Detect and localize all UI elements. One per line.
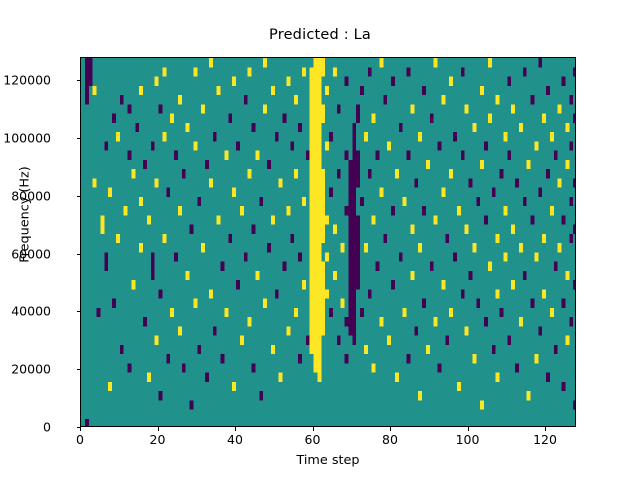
figure-canvas: Predicted : La 0200004000060000800001000…: [0, 0, 640, 480]
page-title: Predicted : La: [0, 27, 640, 43]
heatmap-plot-area[interactable]: [80, 57, 576, 427]
x-tick-mark: [235, 427, 236, 431]
y-tick-mark: [77, 369, 81, 370]
heatmap-image: [81, 58, 576, 427]
y-tick-mark: [77, 311, 81, 312]
y-tick-mark: [77, 254, 81, 255]
x-tick-mark: [545, 427, 546, 431]
x-tick-mark: [313, 427, 314, 431]
x-tick-label: 40: [227, 432, 243, 447]
y-tick-label: 120000: [0, 73, 51, 88]
y-tick-label: 0: [0, 420, 51, 435]
x-tick-mark: [468, 427, 469, 431]
y-axis-label: Frequency (Hz): [18, 105, 33, 325]
x-tick-label: 80: [382, 432, 398, 447]
x-tick-mark: [158, 427, 159, 431]
x-tick-label: 20: [150, 432, 166, 447]
y-tick-label: 20000: [0, 362, 51, 377]
x-tick-label: 60: [305, 432, 321, 447]
x-tick-label: 120: [533, 432, 557, 447]
x-axis-label: Time step: [80, 453, 576, 468]
x-tick-mark: [390, 427, 391, 431]
x-tick-label: 0: [76, 432, 84, 447]
y-tick-mark: [77, 196, 81, 197]
x-tick-mark: [80, 427, 81, 431]
y-tick-mark: [77, 80, 81, 81]
y-tick-mark: [77, 138, 81, 139]
x-tick-label: 100: [456, 432, 480, 447]
